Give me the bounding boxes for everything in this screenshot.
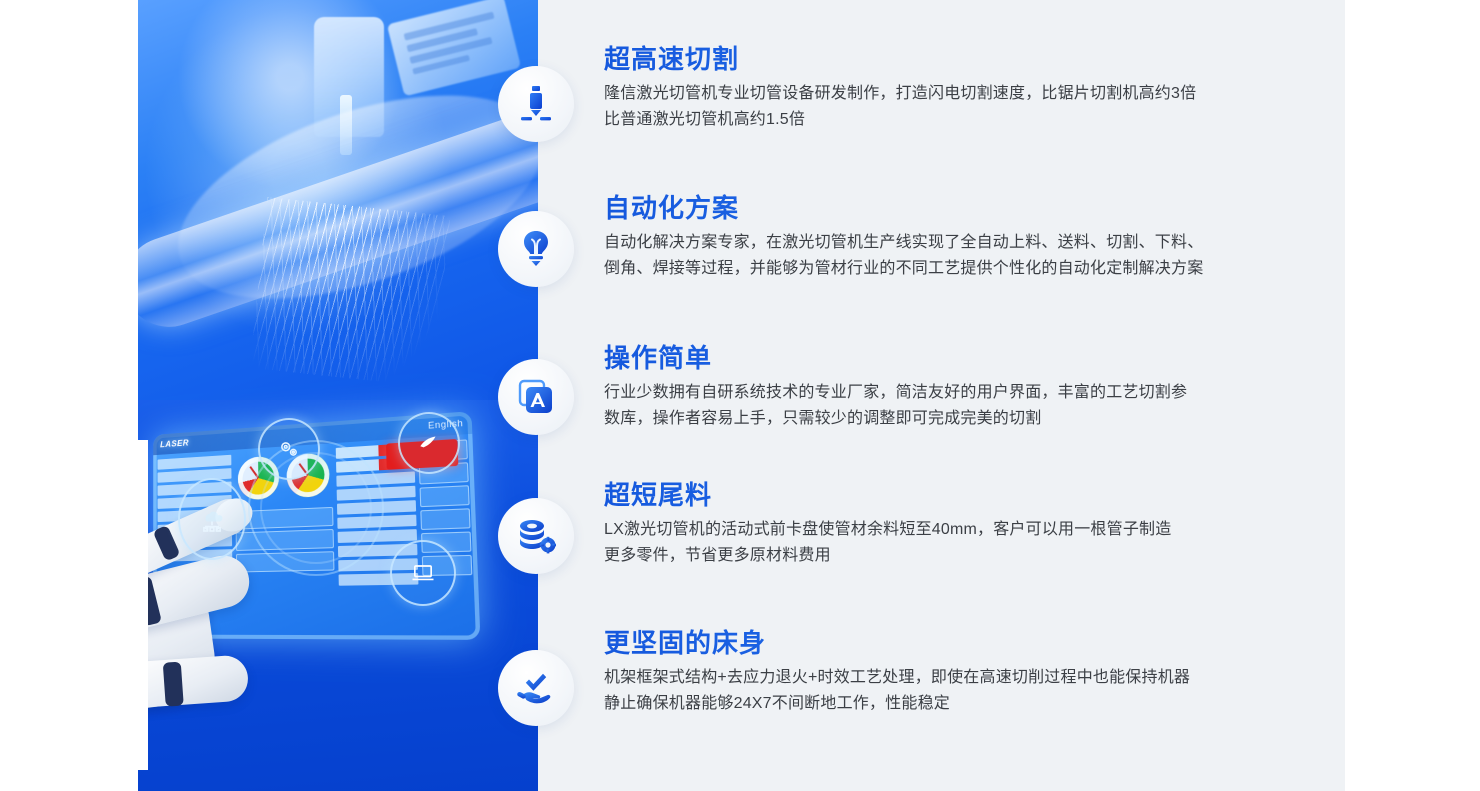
cloud-network-icon — [180, 480, 244, 558]
feature-text-3: 操作简单 行业少数拥有自研系统技术的专业厂家，简洁友好的用户界面，丰富的工艺切割… — [604, 343, 1187, 432]
robot-knuckle-thumb — [163, 662, 184, 707]
photo-left-fade — [138, 440, 148, 770]
feature-desc-3-line-2: 数库，操作者容易上手，只需较少的调整即可完成完美的切割 — [604, 406, 1187, 432]
app-window-a-icon-badge — [498, 359, 574, 435]
feature-text-1: 超高速切割 隆信激光切管机专业切管设备研发制作，打造闪电切割速度，比锯片切割机高… — [604, 44, 1196, 133]
feature-desc-2-line-2: 倒角、焊接等过程，并能够为管材行业的不同工艺提供个性化的自动化定制解决方案 — [604, 256, 1203, 282]
hmi-control-photo: LASER English — [138, 400, 538, 791]
feature-desc-5-line-1: 机架框架式结构+去应力退火+时效工艺处理，即使在高速切削过程中也能保持机器 — [604, 665, 1190, 691]
product-photo-panel: LASER English — [138, 0, 538, 791]
lightbulb-icon — [518, 229, 554, 269]
hand-check-icon-badge — [498, 650, 574, 726]
laser-cut-icon — [400, 414, 458, 472]
hud-node-laser-cut — [398, 412, 460, 474]
robot-thumb — [138, 654, 249, 709]
lightbulb-icon-badge — [498, 211, 574, 287]
feature-title-1: 超高速切割 — [604, 44, 1196, 75]
feature-desc-3-line-1: 行业少数拥有自研系统技术的专业厂家，简洁友好的用户界面，丰富的工艺切割参 — [604, 380, 1187, 406]
database-gear-icon-badge — [498, 498, 574, 574]
feature-item-2[interactable]: 自动化方案 自动化解决方案专家，在激光切管机生产线实现了全自动上料、送料、切割、… — [538, 193, 1345, 282]
features-panel: 超高速切割 隆信激光切管机专业切管设备研发制作，打造闪电切割速度，比锯片切割机高… — [538, 0, 1345, 791]
feature-desc-4-line-2: 更多零件，节省更多原材料费用 — [604, 543, 1171, 569]
hud-node-cloud-network — [178, 478, 246, 560]
machine-label-tag — [387, 0, 521, 96]
feature-desc-2-line-1: 自动化解决方案专家，在激光切管机生产线实现了全自动上料、送料、切割、下料、 — [604, 230, 1203, 256]
feature-item-4[interactable]: 超短尾料 LX激光切管机的活动式前卡盘使管材余料短至40mm，客户可以用一根管子… — [538, 480, 1345, 569]
feature-title-5: 更坚固的床身 — [604, 628, 1190, 659]
feature-item-3[interactable]: 操作简单 行业少数拥有自研系统技术的专业厂家，简洁友好的用户界面，丰富的工艺切割… — [538, 343, 1345, 432]
feature-item-1[interactable]: 超高速切割 隆信激光切管机专业切管设备研发制作，打造闪电切割速度，比锯片切割机高… — [538, 44, 1345, 133]
hand-check-icon — [516, 670, 556, 706]
feature-title-4: 超短尾料 — [604, 480, 1171, 511]
feature-desc-1-line-1: 隆信激光切管机专业切管设备研发制作，打造闪电切割速度，比锯片切割机高约3倍 — [604, 81, 1196, 107]
feature-item-5[interactable]: 更坚固的床身 机架框架式结构+去应力退火+时效工艺处理，即使在高速切削过程中也能… — [538, 628, 1345, 717]
app-window-a-icon — [517, 378, 555, 416]
hmi-brand-label: LASER — [160, 432, 189, 454]
laptop-icon — [392, 542, 454, 604]
cutting-sparks — [250, 197, 451, 387]
hud-node-laptop — [390, 540, 456, 606]
laser-head-icon-badge — [498, 66, 574, 142]
feature-text-4: 超短尾料 LX激光切管机的活动式前卡盘使管材余料短至40mm，客户可以用一根管子… — [604, 480, 1171, 569]
feature-text-5: 更坚固的床身 机架框架式结构+去应力退火+时效工艺处理，即使在高速切削过程中也能… — [604, 628, 1190, 717]
feature-desc-1-line-2: 比普通激光切管机高约1.5倍 — [604, 107, 1196, 133]
feature-desc-4-line-1: LX激光切管机的活动式前卡盘使管材余料短至40mm，客户可以用一根管子制造 — [604, 517, 1171, 543]
feature-text-2: 自动化方案 自动化解决方案专家，在激光切管机生产线实现了全自动上料、送料、切割、… — [604, 193, 1203, 282]
feature-desc-5-line-2: 静止确保机器能够24X7不间断地工作，性能稳定 — [604, 691, 1190, 717]
laser-head-icon — [519, 85, 553, 123]
laser-cutting-photo — [138, 0, 538, 430]
feature-title-3: 操作简单 — [604, 343, 1187, 374]
page-root: LASER English — [0, 0, 1480, 791]
database-gear-icon — [516, 517, 556, 555]
feature-title-2: 自动化方案 — [604, 193, 1203, 224]
